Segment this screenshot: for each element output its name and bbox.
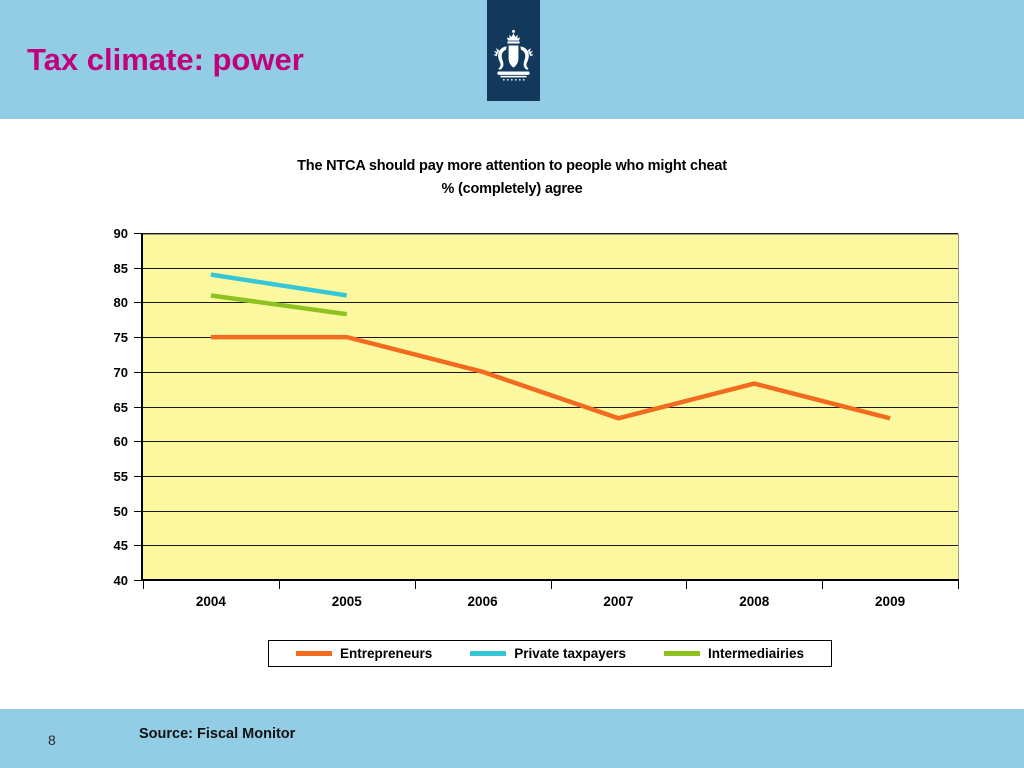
y-axis-tick	[134, 233, 143, 234]
x-axis-label: 2008	[709, 594, 799, 609]
x-axis-tick	[415, 581, 416, 589]
y-axis-label: 45	[92, 539, 128, 552]
y-axis-label: 65	[92, 401, 128, 414]
legend-swatch-icon	[296, 651, 332, 656]
x-axis-tick	[143, 581, 144, 589]
x-axis-label: 2004	[166, 594, 256, 609]
gridline	[143, 302, 958, 303]
chart-title: The NTCA should pay more attention to pe…	[0, 155, 1024, 201]
y-axis-label: 70	[92, 366, 128, 379]
source-note: Source: Fiscal Monitor	[139, 726, 295, 742]
chart-subtitle: % (completely) agree	[0, 178, 1024, 201]
x-axis-label: 2007	[573, 594, 663, 609]
y-axis-label: 90	[92, 227, 128, 240]
x-axis-tick	[686, 581, 687, 589]
gridline	[143, 372, 958, 373]
y-axis-tick	[134, 545, 143, 546]
gridline	[143, 511, 958, 512]
y-axis-label: 75	[92, 331, 128, 344]
gridline	[143, 268, 958, 269]
x-axis-line	[141, 579, 959, 581]
y-axis-label: 80	[92, 296, 128, 309]
y-axis-label: 40	[92, 574, 128, 587]
dutch-government-crest-icon	[487, 28, 540, 94]
page-number: 8	[48, 732, 56, 748]
chart-title-line1: The NTCA should pay more attention to pe…	[297, 158, 727, 174]
x-axis-tick	[822, 581, 823, 589]
y-axis-tick	[134, 302, 143, 303]
gridline	[143, 337, 958, 338]
x-axis-tick	[958, 581, 959, 589]
y-axis-tick	[134, 476, 143, 477]
y-axis-tick	[134, 441, 143, 442]
header-divider	[0, 119, 1024, 122]
y-axis-tick	[134, 580, 143, 581]
gridline	[143, 545, 958, 546]
legend-swatch-icon	[664, 651, 700, 656]
logo-banner	[487, 0, 540, 101]
gridline	[143, 233, 958, 234]
y-axis-label: 60	[92, 435, 128, 448]
chart-legend: EntrepreneursPrivate taxpayersIntermedia…	[268, 640, 832, 667]
gridline	[143, 441, 958, 442]
y-axis-label: 55	[92, 470, 128, 483]
y-axis-label: 85	[92, 262, 128, 275]
x-axis-tick	[551, 581, 552, 589]
legend-swatch-icon	[470, 651, 506, 656]
legend-item[interactable]: Intermediairies	[664, 646, 804, 661]
page-title: Tax climate: power	[27, 42, 304, 78]
x-axis-label: 2009	[845, 594, 935, 609]
legend-label: Entrepreneurs	[340, 646, 432, 661]
y-axis-tick	[134, 268, 143, 269]
x-axis-tick	[279, 581, 280, 589]
gridline	[143, 476, 958, 477]
y-axis-tick	[134, 337, 143, 338]
gridline	[143, 407, 958, 408]
y-axis-tick	[134, 407, 143, 408]
x-axis-label: 2006	[438, 594, 528, 609]
legend-item[interactable]: Entrepreneurs	[296, 646, 432, 661]
legend-item[interactable]: Private taxpayers	[470, 646, 626, 661]
x-axis-label: 2005	[302, 594, 392, 609]
y-axis-label: 50	[92, 505, 128, 518]
legend-label: Intermediairies	[708, 646, 804, 661]
legend-label: Private taxpayers	[514, 646, 626, 661]
y-axis-tick	[134, 511, 143, 512]
y-axis-tick	[134, 372, 143, 373]
